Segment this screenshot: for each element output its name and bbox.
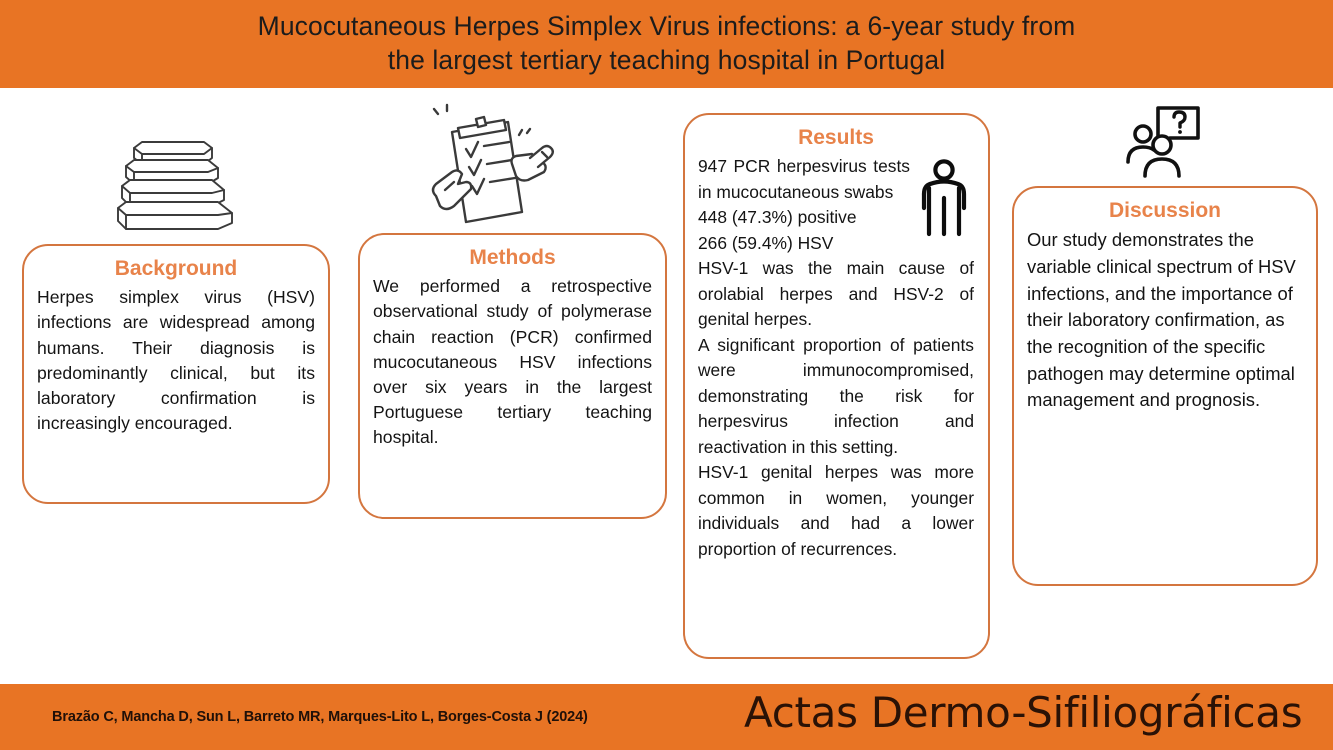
header-bar: Mucocutaneous Herpes Simplex Virus infec…	[0, 0, 1333, 88]
standing-person-icon	[916, 158, 972, 240]
panel-results-body: 947 PCR herpesvirus tests in mucocutaneo…	[698, 154, 974, 562]
two-people-question-bubble-icon	[1118, 102, 1204, 180]
graphical-abstract-poster: Mucocutaneous Herpes Simplex Virus infec…	[0, 0, 1333, 750]
panel-results-heading: Results	[698, 125, 974, 151]
panel-background-heading: Background	[37, 256, 315, 282]
results-paragraph-3: HSV-1 genital herpes was more common in …	[698, 460, 974, 562]
books-stack-icon	[108, 122, 258, 242]
footer-journal-name: Actas Dermo-Sifiliográficas	[744, 688, 1302, 737]
footer-authors: Brazão C, Mancha D, Sun L, Barreto MR, M…	[52, 709, 588, 725]
clipboard-checklist-icon	[414, 100, 586, 232]
panel-discussion: Discussion Our study demonstrates the va…	[1012, 186, 1318, 586]
page-title: Mucocutaneous Herpes Simplex Virus infec…	[258, 10, 1076, 78]
footer-bar: Brazão C, Mancha D, Sun L, Barreto MR, M…	[0, 684, 1333, 750]
results-paragraph-2: A significant proportion of patients wer…	[698, 333, 974, 461]
panel-methods-heading: Methods	[373, 245, 652, 271]
results-paragraph-1: HSV-1 was the main cause of orolabial he…	[698, 256, 974, 333]
panel-methods-body: We performed a retrospective observation…	[373, 274, 652, 450]
panel-background-body: Herpes simplex virus (HSV) infections ar…	[37, 285, 315, 436]
panel-discussion-body: Our study demonstrates the variable clin…	[1027, 227, 1303, 414]
panel-methods: Methods We performed a retrospective obs…	[358, 233, 667, 519]
panel-results: Results 947 PCR herpesvirus tests i	[683, 113, 990, 659]
panel-discussion-heading: Discussion	[1027, 198, 1303, 224]
panel-background: Background Herpes simplex virus (HSV) in…	[22, 244, 330, 504]
